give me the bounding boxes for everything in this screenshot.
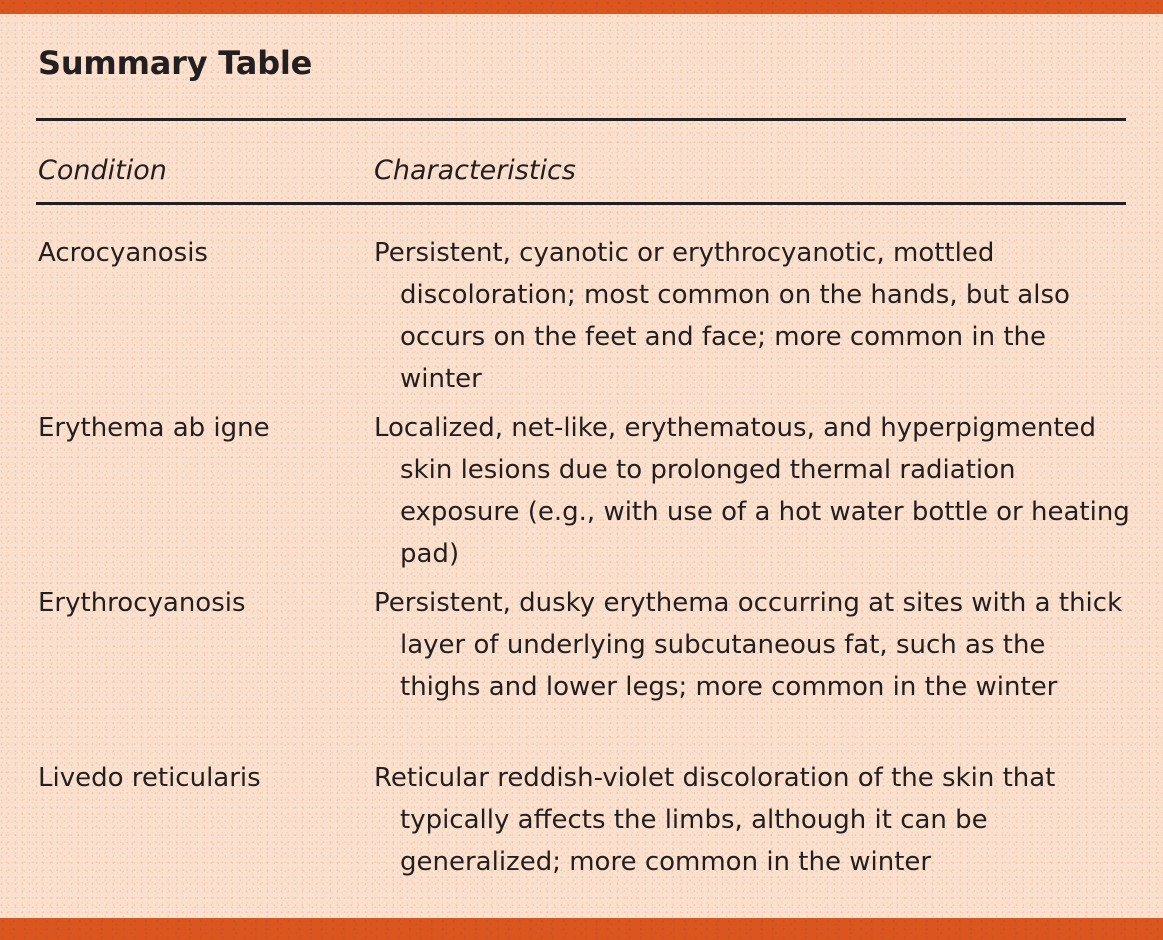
page-title: Summary Table bbox=[38, 44, 312, 82]
top-accent-bar bbox=[0, 0, 1163, 14]
bottom-accent-bar bbox=[0, 918, 1163, 940]
cell-condition: Livedo reticularis bbox=[38, 757, 374, 799]
cell-characteristics: Persistent, cyanotic or erythrocyanotic,… bbox=[374, 232, 1130, 400]
cell-characteristics: Reticular reddish-violet discoloration o… bbox=[374, 757, 1130, 883]
table-row: Acrocyanosis Persistent, cyanotic or ery… bbox=[38, 232, 1130, 400]
header-divider-rule bbox=[36, 202, 1126, 205]
table-row: Erythrocyanosis Persistent, dusky erythe… bbox=[38, 582, 1130, 708]
title-divider-rule bbox=[36, 118, 1126, 121]
column-header-condition: Condition bbox=[38, 154, 374, 188]
cell-condition: Erythrocyanosis bbox=[38, 582, 374, 624]
cell-characteristics: Persistent, dusky erythema occurring at … bbox=[374, 582, 1130, 708]
cell-condition: Acrocyanosis bbox=[38, 232, 374, 274]
summary-table-page: Summary Table Condition Characteristics … bbox=[0, 0, 1163, 940]
table-header-row: Condition Characteristics bbox=[38, 154, 1130, 188]
cell-characteristics: Localized, net-like, erythematous, and h… bbox=[374, 407, 1130, 575]
table-row: Livedo reticularis Reticular reddish-vio… bbox=[38, 757, 1130, 883]
column-header-characteristics: Characteristics bbox=[374, 154, 1130, 188]
table-row: Erythema ab igne Localized, net-like, er… bbox=[38, 407, 1130, 575]
cell-condition: Erythema ab igne bbox=[38, 407, 374, 449]
